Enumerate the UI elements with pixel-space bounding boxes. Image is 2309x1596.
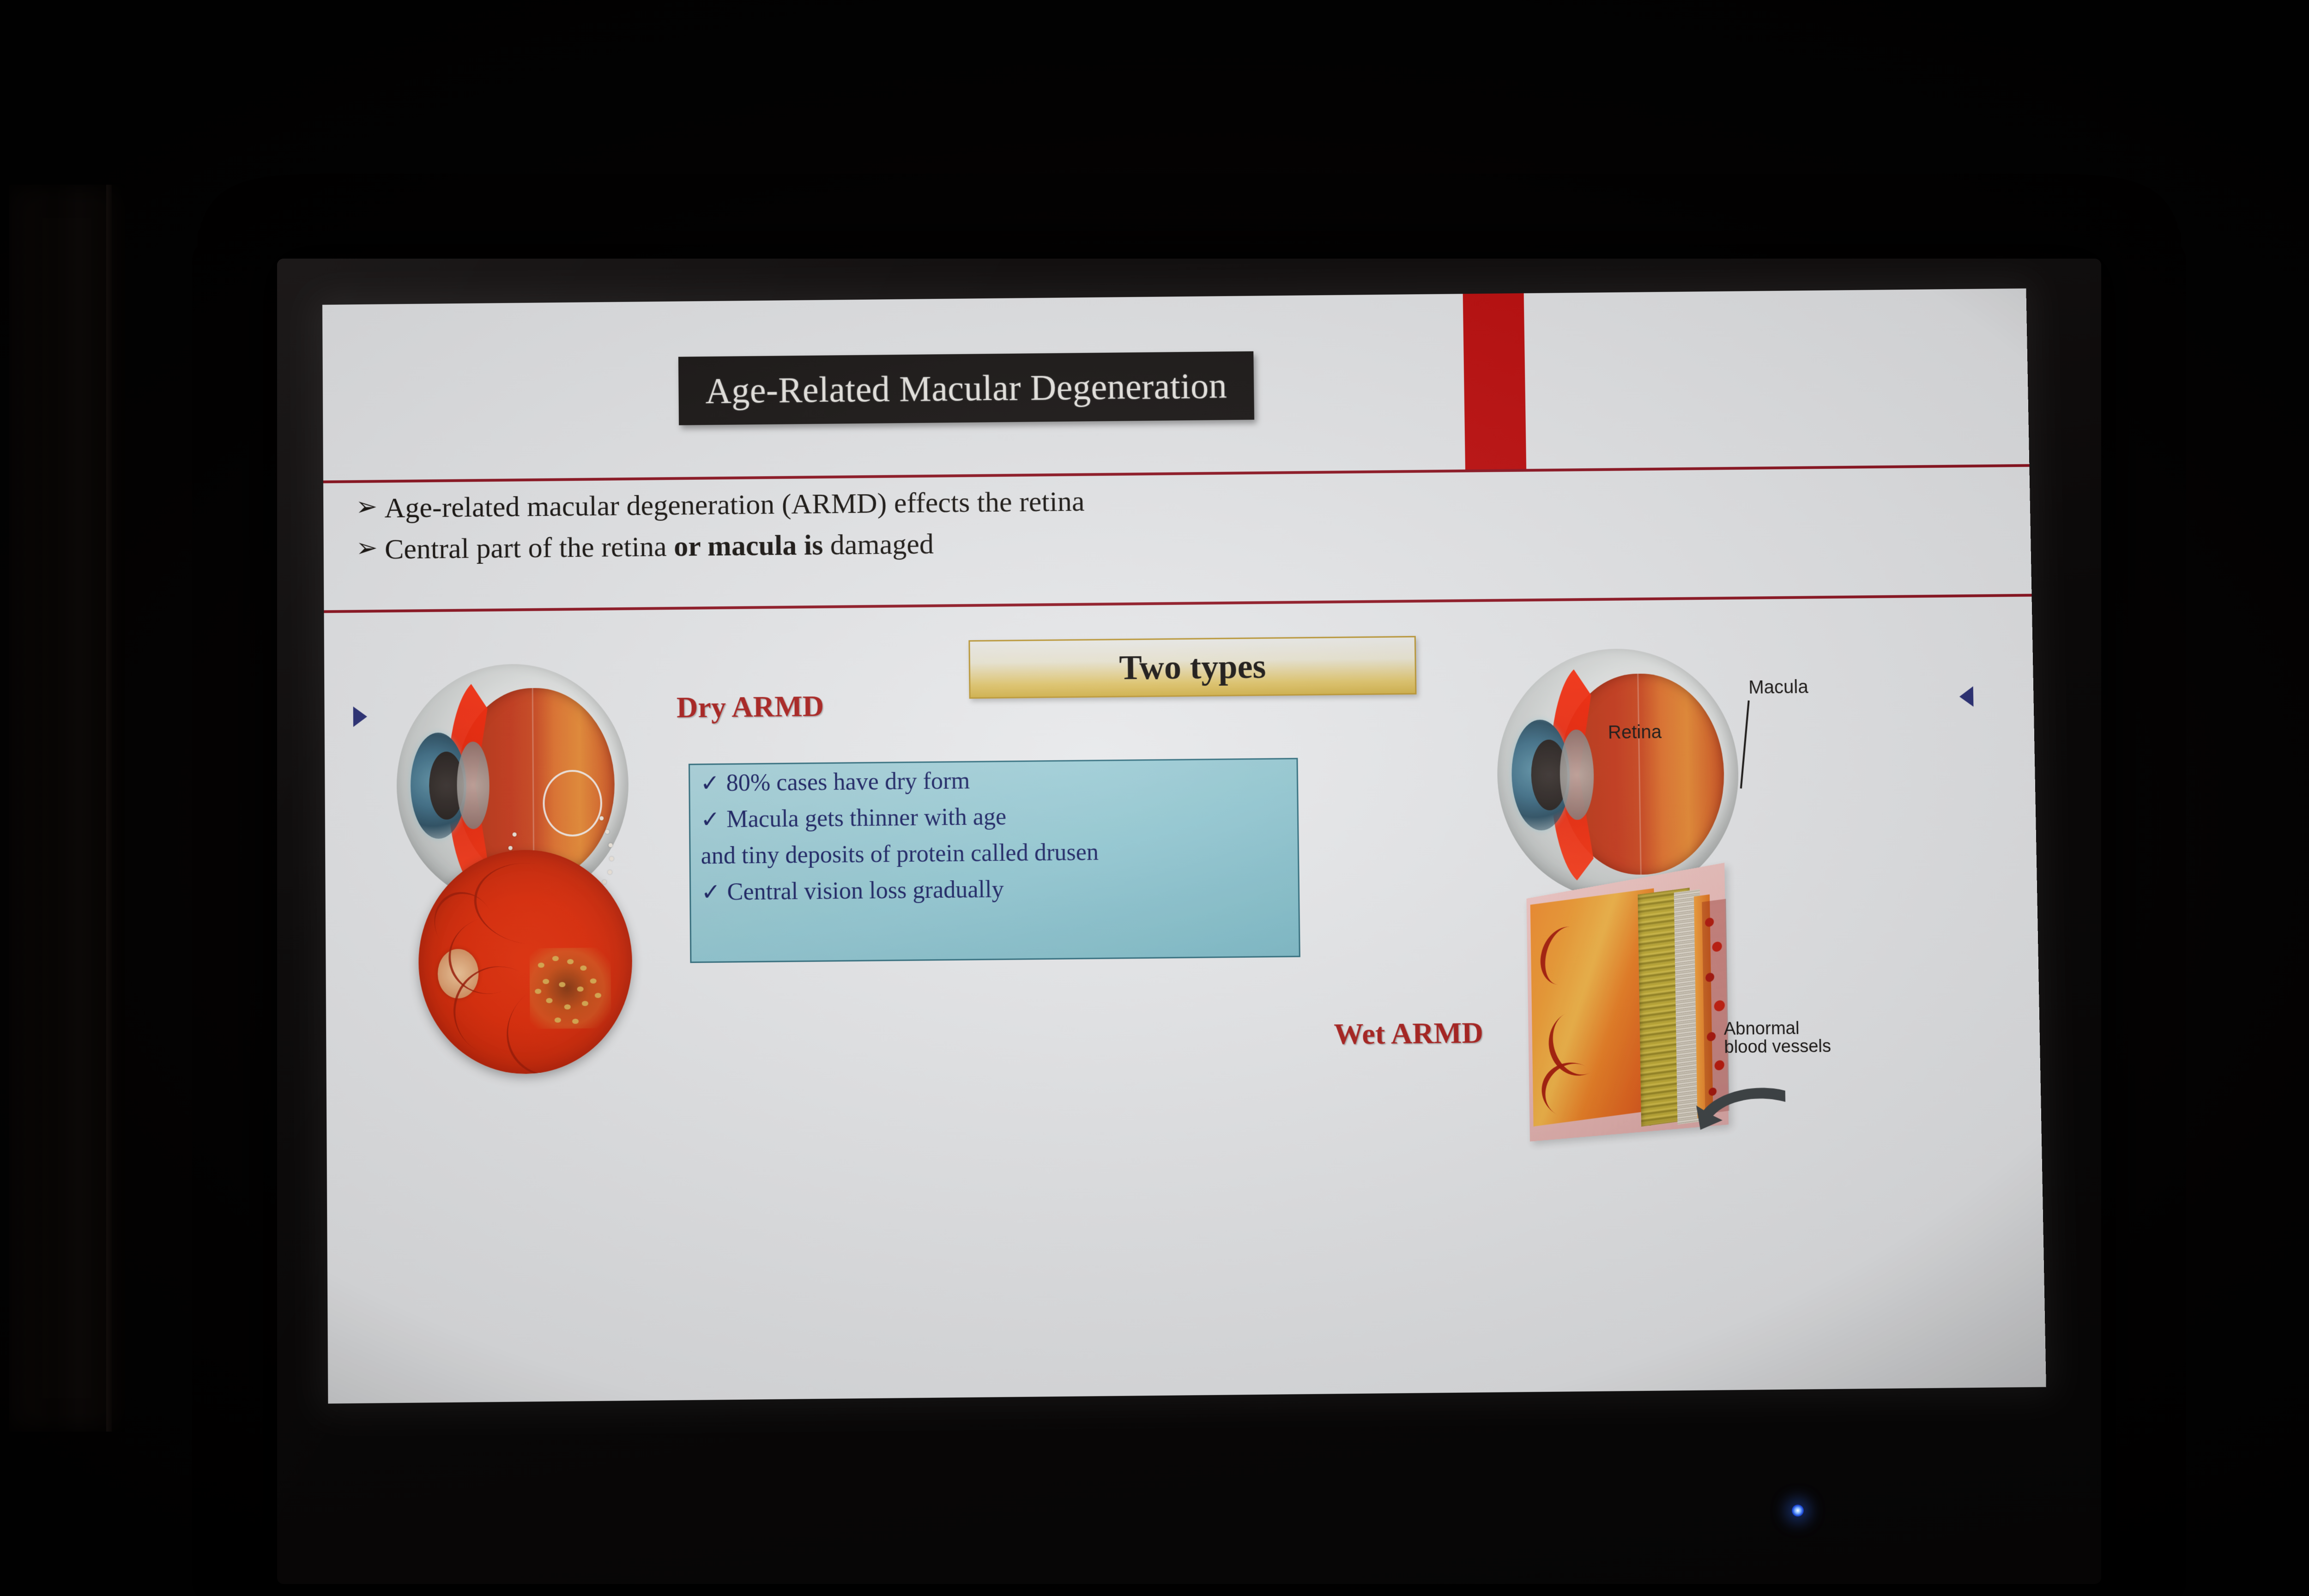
eye-cross-section-wet-image [1496, 648, 1741, 901]
macula-label: Macula [1748, 677, 1808, 697]
presentation-slide-wrapper: Age-Related Macular Degeneration ➢ Age-r… [322, 289, 2046, 1404]
triangle-right-icon[interactable] [353, 707, 367, 727]
checklist-text: Central vision loss gradually [727, 877, 1004, 904]
drusen-deposit-cluster [530, 948, 611, 1029]
wet-armd-heading: Wet ARMD [1334, 1016, 1483, 1052]
bullet-text: Central part of the retina or macula is … [385, 529, 934, 565]
slide-title: Age-Related Macular Degeneration [705, 365, 1227, 411]
bullet-item: ➢ Central part of the retina or macula i… [356, 519, 1929, 565]
abnormal-vessels-line2: blood vessels [1724, 1037, 1831, 1056]
checklist-item: ✓ Central vision loss gradually [701, 875, 1288, 905]
abnormal-vessels-line1: Abnormal [1724, 1019, 1831, 1038]
dark-room-background: Age-Related Macular Degeneration ➢ Age-r… [0, 0, 2309, 1596]
curved-arrow-icon [1687, 1080, 1790, 1137]
checklist-continuation-text: and tiny deposits of protein called drus… [701, 839, 1287, 869]
dry-armd-info-box: ✓ 80% cases have dry form ✓ Macula gets … [689, 758, 1300, 963]
wall-panel-edge [106, 185, 112, 1432]
checklist-item: ✓ Macula gets thinner with age [701, 802, 1287, 832]
power-led-indicator [1792, 1505, 1804, 1517]
check-icon: ✓ [701, 880, 727, 904]
two-types-box: Two types [968, 636, 1416, 699]
bullet-item: ➢ Age-related macular degeneration (ARMD… [356, 478, 1928, 524]
lens [457, 742, 490, 829]
bullet-text: Age-related macular degeneration (ARMD) … [384, 486, 1084, 524]
presentation-slide: Age-Related Macular Degeneration ➢ Age-r… [322, 289, 2046, 1404]
divider-rule-bottom [324, 594, 2031, 613]
check-icon: ✓ [701, 808, 727, 831]
macula-pointer-line [1740, 701, 1750, 789]
checklist-item: ✓ 80% cases have dry form [700, 766, 1287, 796]
triangle-left-icon[interactable] [1959, 686, 1974, 707]
checklist-text: 80% cases have dry form [726, 769, 970, 795]
accent-bar-red [1463, 293, 1526, 470]
retina-label: Retina [1608, 723, 1662, 742]
retina-fundus-photo [418, 849, 633, 1075]
checklist-text: Macula gets thinner with age [726, 805, 1006, 832]
retinal-vessel [1535, 924, 1594, 987]
abnormal-blood-vessels-label: Abnormal blood vessels [1724, 1019, 1831, 1057]
arrow-bullet-icon: ➢ [356, 534, 385, 562]
slide-title-banner: Age-Related Macular Degeneration [678, 351, 1254, 425]
bullet-list: ➢ Age-related macular degeneration (ARMD… [356, 478, 1929, 575]
dry-armd-heading: Dry ARMD [677, 689, 824, 725]
two-types-label: Two types [1119, 647, 1266, 688]
check-icon: ✓ [700, 771, 726, 795]
arrow-bullet-icon: ➢ [356, 493, 384, 521]
